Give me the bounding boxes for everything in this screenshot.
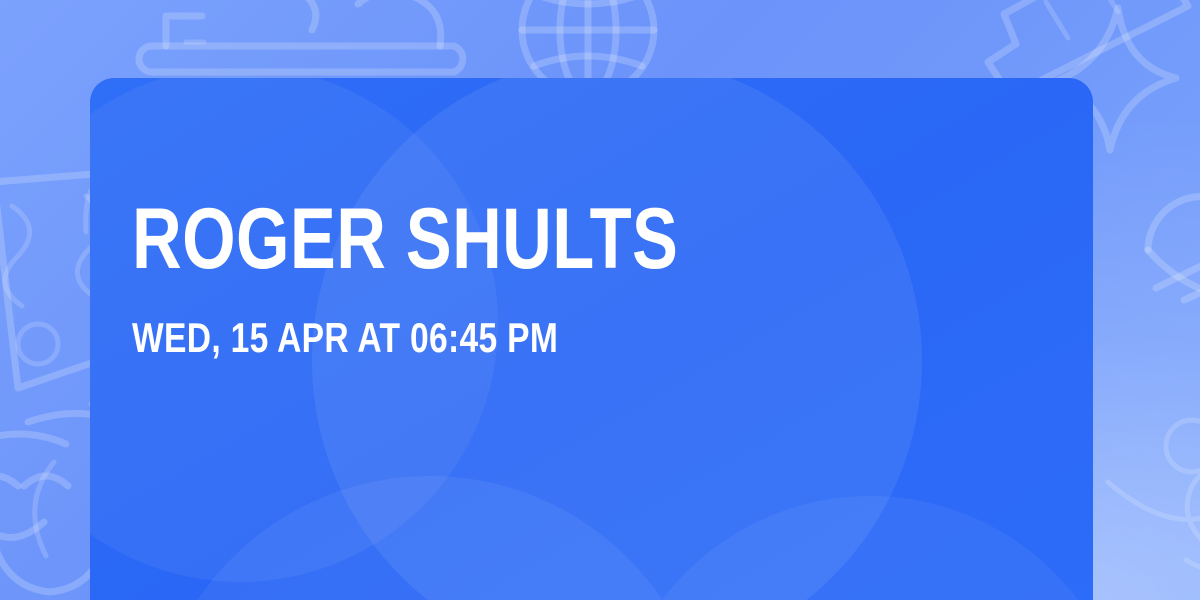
card-content: Roger Shults Wed, 15 Apr at 06:45 PM: [132, 78, 815, 600]
event-card[interactable]: Roger Shults Wed, 15 Apr at 06:45 PM: [90, 78, 1093, 600]
event-date: Wed, 15 Apr at 06:45 PM: [132, 275, 678, 357]
confetti-swirl-icon: [1108, 420, 1200, 574]
stage-podium-icon: [139, 0, 463, 72]
event-banner: Roger Shults Wed, 15 Apr at 06:45 PM: [0, 0, 1200, 600]
event-title: Roger Shults: [132, 204, 678, 275]
microphone-icon: [1148, 197, 1200, 340]
